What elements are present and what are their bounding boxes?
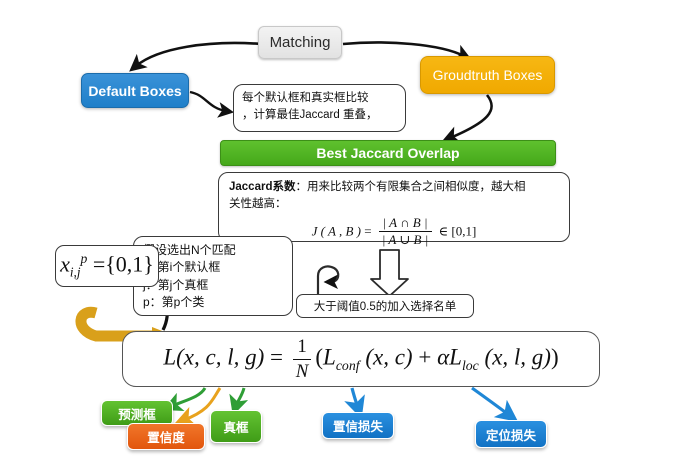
loss-term2-args: (x, l, g) [485,344,551,369]
chip-confidence[interactable]: 置信度 [127,423,205,450]
chip-confidence-loss[interactable]: 置信损失 [322,412,394,439]
jaccard-lhs: J ( A , B ) [312,223,361,238]
callout-jaccard-definition: Jaccard系数：用来比较两个有限集合之间相似度，越大相 关性越高： J ( … [218,172,570,242]
node-matching[interactable]: Matching [258,26,342,59]
assume-line-3: j：第j个真框 [143,277,283,294]
arrow-groundtruth-to-overlap [450,95,492,138]
indicator-value: {0,1} [105,251,154,276]
assume-line-4: p：第p个类 [143,294,283,311]
hollow-down-arrow [371,250,408,296]
callout-threshold-rule: 大于阈值0.5的加入选择名单 [296,294,474,318]
diagram-canvas: Matching Default Boxes Groudtruth Boxes … [0,0,692,471]
node-default-boxes[interactable]: Default Boxes [81,73,189,108]
loss-fraction: 1 N [292,336,313,382]
loss-term2-subscript: loc [462,358,479,373]
callout-compare-note: 每个默认框和真实框比较 ，计算最佳Jaccard 重叠， [233,84,406,132]
chip-localization-loss[interactable]: 定位损失 [475,420,547,448]
compare-line-1: 每个默认框和真实框比较 [242,90,397,107]
arrow-threshold-loopback [318,266,338,294]
arrow-lloc-to-locloss [472,388,509,415]
arrow-default-to-compare [190,92,226,111]
callout-indicator-variable: xi,jp ={0,1} [55,245,159,287]
loss-close-paren: ) [551,344,559,369]
arrow-lconf-to-confloss [352,388,358,408]
indicator-superscript: p [81,251,88,266]
loss-equals: = [270,344,283,369]
jaccard-desc-2: 关性越高： [229,196,559,213]
jaccard-equals: = [364,223,371,238]
jaccard-fraction: | A ∩ B | | A ∪ B | [378,216,432,249]
loss-term2-base: L [449,344,462,369]
jaccard-range: ∈ [0,1] [439,223,477,238]
compare-line-2: ，计算最佳Jaccard 重叠， [242,107,397,124]
loss-term1-args: (x, c) [365,344,412,369]
loss-term1-base: L [323,344,336,369]
loss-frac-denominator: N [292,360,313,383]
jaccard-desc-1: ：用来比较两个有限集合之间相似度，越大相 [295,181,525,193]
jaccard-title: Jaccard系数 [229,181,295,193]
loss-formula: L(x, c, l, g) = 1 N (Lconf (x, c) + αLlo… [163,336,558,382]
loss-plus: + [418,344,431,369]
loss-alpha: α [437,344,449,369]
assume-line-2: i：第i个默认框 [143,259,283,276]
loss-term1-subscript: conf [336,358,360,373]
jaccard-numerator: | A ∩ B | [379,216,432,233]
node-best-jaccard-overlap[interactable]: Best Jaccard Overlap [220,140,556,166]
arrow-matching-to-default [136,43,262,66]
indicator-equals: = [93,251,105,276]
jaccard-denominator: | A ∪ B | [378,232,432,248]
indicator-base: x [60,251,70,276]
arrow-matching-to-groundtruth [343,43,464,57]
jaccard-text-block: Jaccard系数：用来比较两个有限集合之间相似度，越大相 关性越高： [229,179,559,214]
indicator-subscript: i,j [70,265,81,280]
arrow-g-to-truebox [236,388,244,406]
loss-lhs: L(x, c, l, g) [163,344,264,369]
node-groundtruth-boxes[interactable]: Groudtruth Boxes [420,56,555,94]
arrow-x-to-predicted [172,388,205,406]
loss-open-paren: ( [315,344,323,369]
chip-true-box[interactable]: 真框 [210,410,262,443]
callout-loss-function: L(x, c, l, g) = 1 N (Lconf (x, c) + αLlo… [122,331,600,387]
indicator-formula: xi,jp ={0,1} [60,251,154,281]
loss-frac-numerator: 1 [293,336,310,360]
assume-line-1: 假设选出N个匹配 [143,242,283,259]
